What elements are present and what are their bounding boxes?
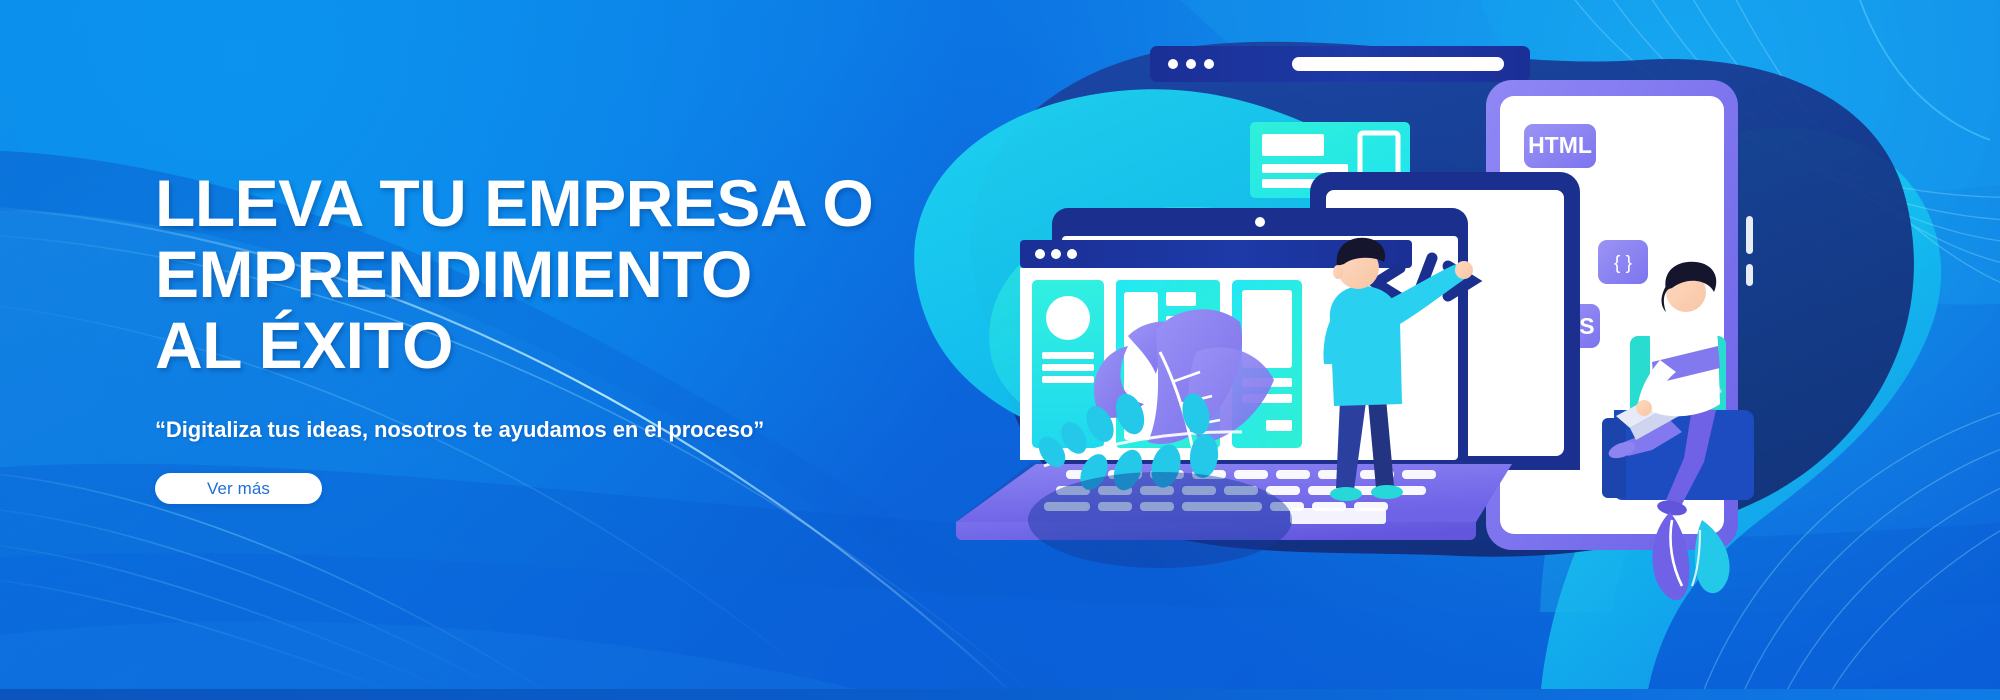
badge-braces-label: { } [1614,253,1632,274]
hero-illustration: HTML { } CSS [860,0,2000,700]
headline-line-3: AL ÉXITO [155,310,915,381]
ver-mas-button[interactable]: Ver más [155,473,322,504]
laptop-screen [1020,208,1468,470]
badge-braces: { } [1598,240,1648,284]
badge-html-label: HTML [1528,132,1592,158]
badge-html: HTML [1524,124,1596,168]
page-title: LLEVA TU EMPRESA O EMPRENDIMIENTO AL ÉXI… [155,168,915,381]
hero-subtitle: “Digitaliza tus ideas, nosotros te ayuda… [155,416,915,444]
headline-line-1: LLEVA TU EMPRESA O [155,168,915,239]
back-browser-window [1150,46,1530,82]
hero-banner: LLEVA TU EMPRESA O EMPRENDIMIENTO AL ÉXI… [0,0,2000,700]
hero-copy: LLEVA TU EMPRESA O EMPRENDIMIENTO AL ÉXI… [155,168,915,504]
illustration-svg: HTML { } CSS [860,0,2000,700]
headline-line-2: EMPRENDIMIENTO [155,239,915,310]
